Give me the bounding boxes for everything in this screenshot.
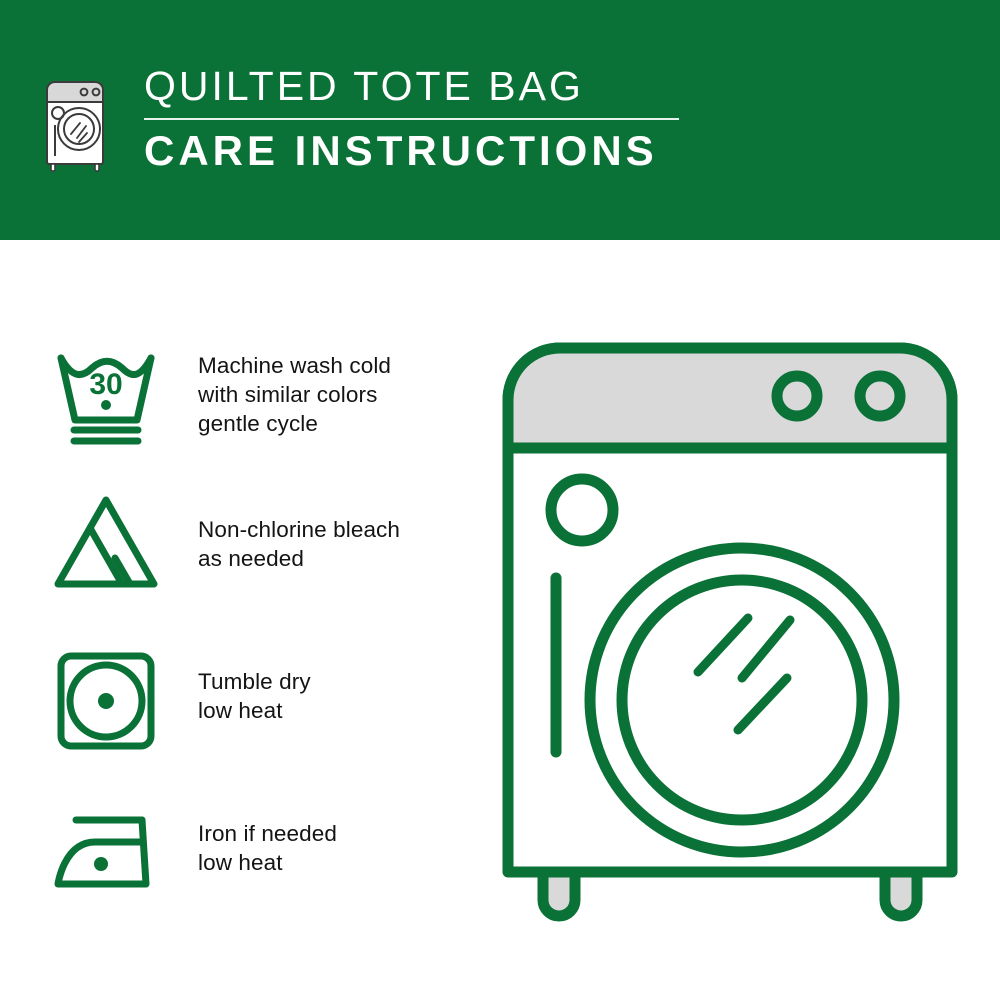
header-content: QUILTED TOTE BAG CARE INSTRUCTIONS [42, 62, 679, 176]
page-subtitle: CARE INSTRUCTIONS [144, 126, 679, 176]
care-instruction-list: 30 Machine wash cold with similar colors… [0, 240, 470, 1000]
header-title-group: QUILTED TOTE BAG CARE INSTRUCTIONS [144, 62, 679, 176]
care-instructions-page: QUILTED TOTE BAG CARE INSTRUCTIONS 30 [0, 0, 1000, 1000]
care-row-iron: Iron if needed low heat [50, 792, 337, 904]
iron-low-heat-icon [50, 792, 162, 904]
front-load-washing-machine-illustration [490, 330, 970, 930]
tumble-dry-low-icon [50, 640, 162, 752]
page-title: QUILTED TOTE BAG [144, 62, 679, 114]
machine-foot-left [543, 872, 575, 916]
non-chlorine-bleach-icon [50, 488, 162, 600]
wash-temperature-label: 30 [89, 368, 122, 401]
header-band: QUILTED TOTE BAG CARE INSTRUCTIONS [0, 0, 1000, 240]
control-panel [508, 348, 952, 448]
care-text-tumble-dry: Tumble dry low heat [198, 667, 311, 725]
care-text-bleach: Non-chlorine bleach as needed [198, 515, 400, 573]
machine-wash-30-gentle-icon: 30 [50, 338, 162, 450]
machine-foot-right [885, 872, 917, 916]
care-text-iron: Iron if needed low heat [198, 819, 337, 877]
title-divider [144, 118, 679, 120]
washing-machine-icon [42, 68, 116, 172]
care-row-bleach: Non-chlorine bleach as needed [50, 488, 400, 600]
care-text-machine-wash: Machine wash cold with similar colors ge… [198, 351, 391, 438]
care-row-tumble-dry: Tumble dry low heat [50, 640, 311, 752]
care-row-machine-wash: 30 Machine wash cold with similar colors… [50, 338, 391, 450]
